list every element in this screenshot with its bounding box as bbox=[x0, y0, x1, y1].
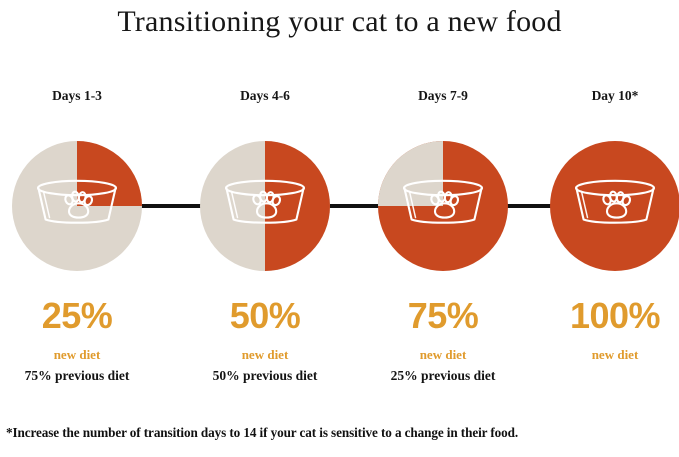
percent-value: 25% bbox=[0, 296, 162, 336]
day-label: Days 1-3 bbox=[0, 88, 162, 104]
percent-value: 75% bbox=[358, 296, 528, 336]
pie-svg bbox=[550, 141, 679, 271]
new-food-slice bbox=[550, 141, 679, 271]
percent-value: 50% bbox=[180, 296, 350, 336]
new-diet-label: new diet bbox=[358, 347, 528, 363]
transition-step: Days 4-6 50% new diet bbox=[180, 0, 350, 400]
bowl-pie-chart bbox=[378, 141, 508, 271]
bowl-pie-chart bbox=[12, 141, 142, 271]
pie-svg bbox=[378, 141, 508, 271]
pie-svg bbox=[200, 141, 330, 271]
transition-step: Days 7-9 75% new diet bbox=[358, 0, 528, 400]
bowl-pie-chart bbox=[200, 141, 330, 271]
previous-diet-label: 50% previous diet bbox=[180, 368, 350, 384]
day-label: Days 4-6 bbox=[180, 88, 350, 104]
day-label: Day 10* bbox=[530, 88, 679, 104]
percent-value: 100% bbox=[530, 296, 679, 336]
pie-svg bbox=[12, 141, 142, 271]
previous-diet-label: 75% previous diet bbox=[0, 368, 162, 384]
footnote-text: *Increase the number of transition days … bbox=[6, 425, 676, 441]
transition-step: Days 1-3 25% new diet bbox=[0, 0, 162, 400]
new-diet-label: new diet bbox=[180, 347, 350, 363]
transition-steps: Days 1-3 25% new diet bbox=[0, 0, 679, 457]
previous-diet-label: 25% previous diet bbox=[358, 368, 528, 384]
bowl-pie-chart bbox=[550, 141, 679, 271]
new-diet-label: new diet bbox=[0, 347, 162, 363]
transition-step: Day 10* 100% new diet bbox=[530, 0, 679, 400]
infographic-root: { "title": "Transitioning your cat to a … bbox=[0, 0, 679, 457]
new-diet-label: new diet bbox=[530, 347, 679, 363]
day-label: Days 7-9 bbox=[358, 88, 528, 104]
